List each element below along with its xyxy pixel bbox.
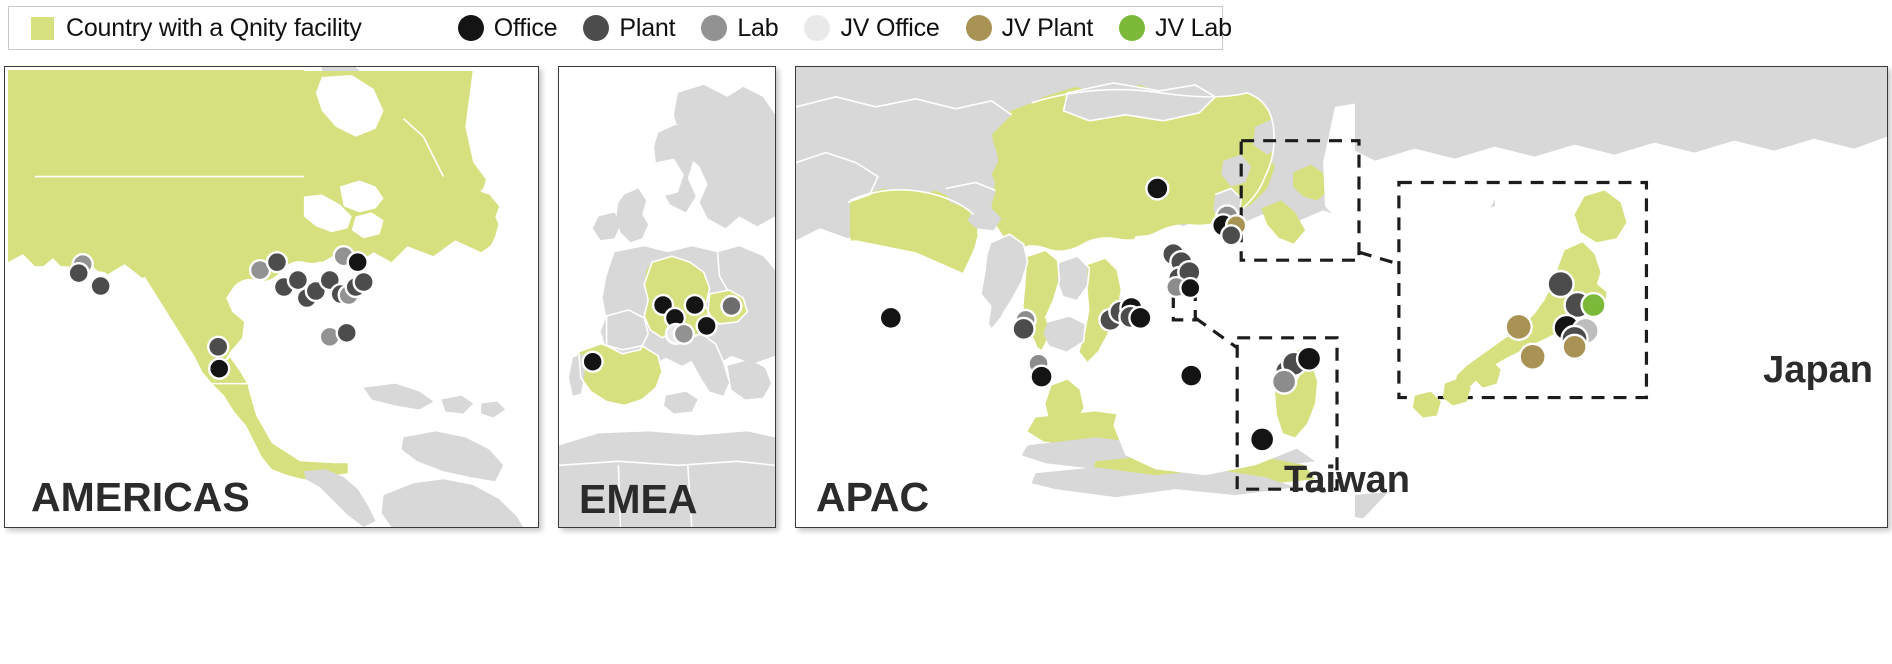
legend-item-plant: Plant: [583, 14, 675, 43]
legend-label-jv-plant: JV Plant: [1002, 14, 1094, 43]
apac-map-svg: [796, 67, 1887, 527]
legend: Country with a Qnity facility Office Pla…: [8, 6, 1223, 50]
legend-category-list: Office Plant Lab JV Office JV Plant JV L…: [458, 14, 1258, 43]
region-label-emea: EMEA: [579, 476, 697, 523]
jv-plant-dot-icon: [966, 15, 992, 41]
legend-item-jv-lab: JV Lab: [1119, 14, 1232, 43]
inset-label-taiwan: Taiwan: [1284, 459, 1410, 502]
jv-office-dot-icon: [804, 15, 830, 41]
lab-dot-icon: [701, 15, 727, 41]
plant-dot-icon: [583, 15, 609, 41]
legend-label-office: Office: [494, 14, 558, 43]
office-dot-icon: [458, 15, 484, 41]
region-label-americas: AMERICAS: [31, 474, 250, 521]
inset-label-japan: Japan: [1763, 349, 1873, 392]
legend-area-label: Country with a Qnity facility: [66, 14, 362, 43]
legend-item-jv-office: JV Office: [804, 14, 939, 43]
legend-label-jv-office: JV Office: [840, 14, 939, 43]
legend-label-lab: Lab: [737, 14, 778, 43]
legend-label-jv-lab: JV Lab: [1155, 14, 1232, 43]
americas-map-svg: [5, 67, 538, 527]
legend-area-item: Country with a Qnity facility: [31, 14, 362, 43]
emea-map-svg: [559, 67, 775, 527]
map-panel-apac[interactable]: APAC Japan Taiwan: [795, 66, 1888, 528]
jv-lab-dot-icon: [1119, 15, 1145, 41]
legend-label-plant: Plant: [619, 14, 675, 43]
legend-item-office: Office: [458, 14, 558, 43]
region-label-apac: APAC: [816, 474, 929, 521]
legend-item-jv-plant: JV Plant: [966, 14, 1094, 43]
map-panel-emea[interactable]: EMEA: [558, 66, 776, 528]
legend-area-swatch: [31, 17, 54, 40]
legend-item-lab: Lab: [701, 14, 778, 43]
map-panel-americas[interactable]: AMERICAS: [4, 66, 539, 528]
map-figure: Country with a Qnity facility Office Pla…: [0, 0, 1892, 664]
